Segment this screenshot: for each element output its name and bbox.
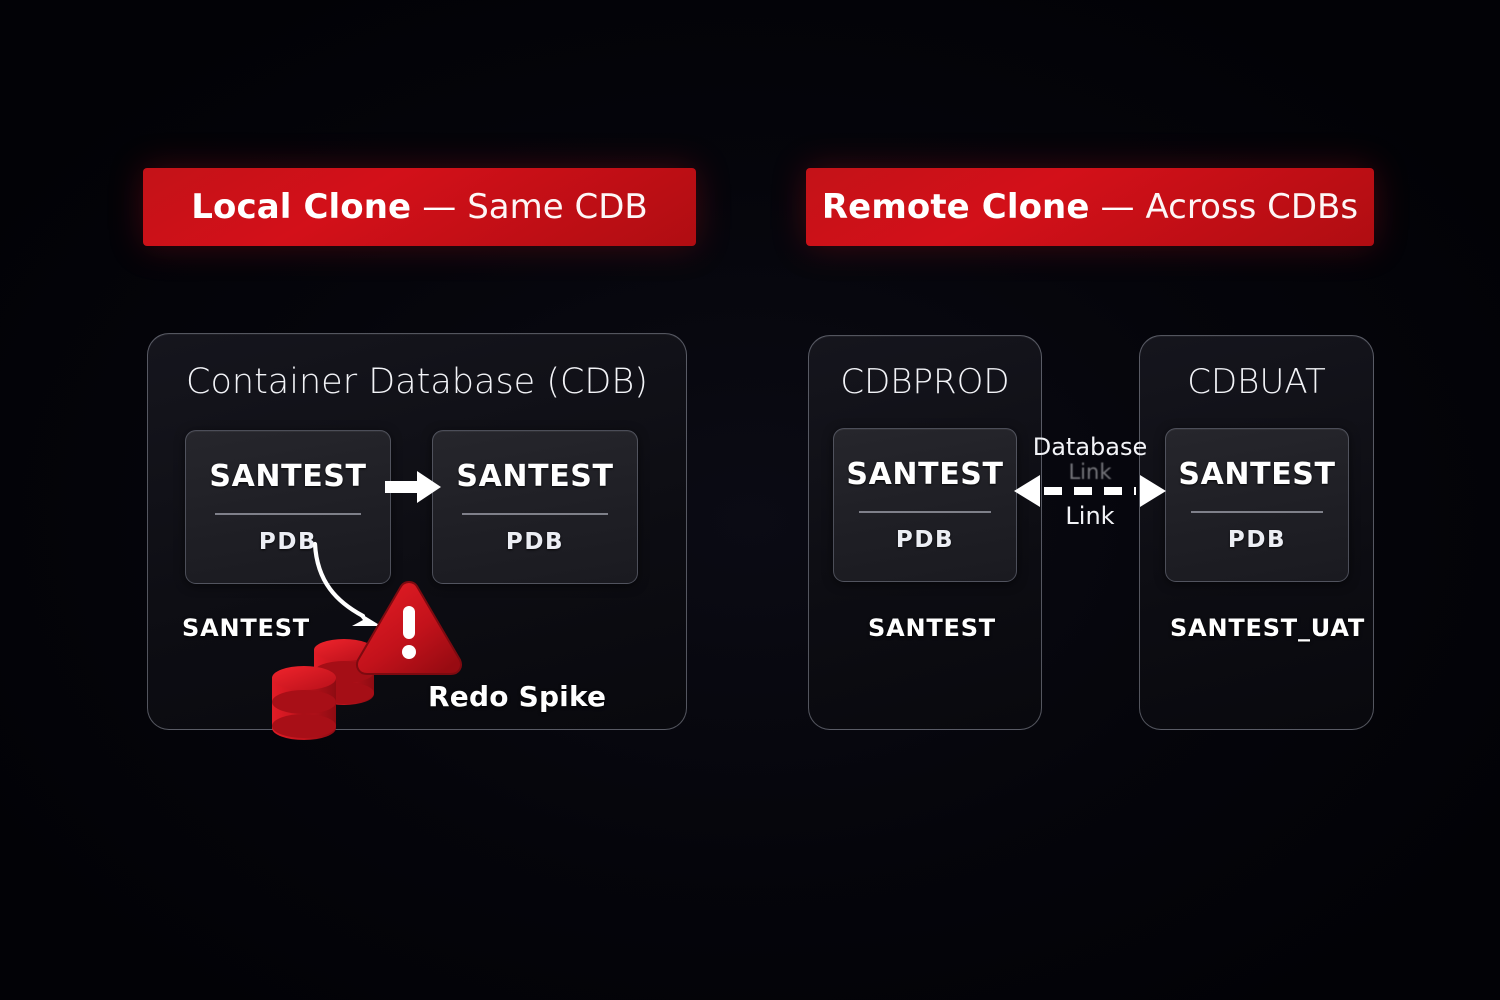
pdb-cdbuat-kind: PDB <box>1228 527 1286 553</box>
pdb-target-divider <box>462 513 609 514</box>
local-source-label: SANTEST <box>182 614 310 642</box>
pdb-cdbprod-kind: PDB <box>896 527 954 553</box>
pdb-cdbprod-name: SANTEST <box>846 457 1003 492</box>
pdb-cdbprod-divider <box>859 511 990 512</box>
banner-remote-light: Across CDBs <box>1146 187 1359 227</box>
banner-local-light: Same CDB <box>467 187 648 227</box>
pdb-target-name: SANTEST <box>456 459 613 494</box>
diagram-canvas: Local Clone — Same CDB Remote Clone — Ac… <box>0 0 1500 1000</box>
cdbuat-pdb-label: SANTEST_UAT <box>1170 614 1365 642</box>
banner-local-clone: Local Clone — Same CDB <box>143 168 696 246</box>
pdb-card-cdbuat: SANTEST PDB <box>1165 428 1349 582</box>
pdb-target-kind: PDB <box>506 529 564 555</box>
banner-local-dash: — <box>422 187 456 227</box>
redo-spike-label: Redo Spike <box>428 680 606 713</box>
database-link-label-top: Database <box>1030 433 1150 461</box>
pdb-card-target: SANTEST PDB <box>432 430 638 584</box>
banner-local-strong: Local Clone <box>191 187 411 227</box>
warning-triangle-icon <box>353 578 465 678</box>
banner-remote-clone: Remote Clone — Across CDBs <box>806 168 1374 246</box>
cdbuat-title: CDBUAT <box>1140 362 1373 402</box>
cdbprod-pdb-label: SANTEST <box>868 614 996 642</box>
database-link-label-bottom: Link <box>1030 502 1150 530</box>
cdbprod-title: CDBPROD <box>809 362 1041 402</box>
pdb-source-divider <box>215 513 362 514</box>
pdb-card-cdbprod: SANTEST PDB <box>833 428 1017 582</box>
banner-remote-strong: Remote Clone <box>822 187 1090 227</box>
container-database-title: Container Database (CDB) <box>148 362 686 402</box>
pdb-source-name: SANTEST <box>209 459 366 494</box>
clone-direction-arrow-icon <box>385 470 441 504</box>
pdb-cdbuat-divider <box>1191 511 1322 512</box>
pdb-cdbuat-name: SANTEST <box>1178 457 1335 492</box>
banner-remote-dash: — <box>1101 187 1135 227</box>
